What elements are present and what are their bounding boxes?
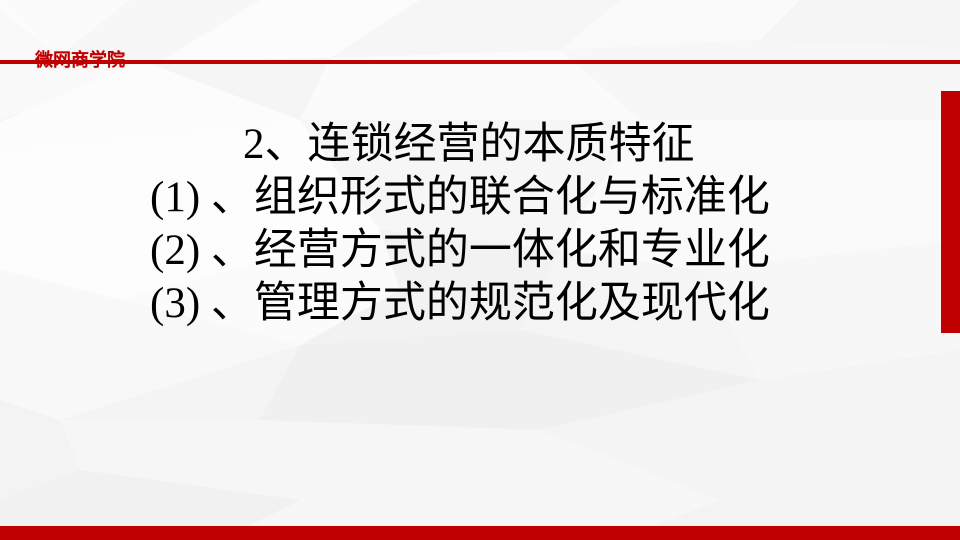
content-line-heading: 2、连锁经营的本质特征 bbox=[0, 118, 900, 171]
brand-logo-text: 微网商学院 bbox=[35, 48, 125, 74]
slide-content-block: 2、连锁经营的本质特征 (1) 、组织形式的联合化与标准化 (2) 、经营方式的… bbox=[0, 118, 900, 330]
content-line-item-2: (2) 、经营方式的一体化和专业化 bbox=[0, 224, 900, 277]
presentation-slide: 微网商学院 2、连锁经营的本质特征 (1) 、组织形式的联合化与标准化 (2) … bbox=[0, 0, 960, 540]
header-divider-rule bbox=[0, 60, 960, 64]
right-accent-bar bbox=[941, 91, 960, 333]
content-line-item-3: (3) 、管理方式的规范化及现代化 bbox=[0, 277, 900, 330]
bottom-accent-bar bbox=[0, 526, 960, 540]
content-line-item-1: (1) 、组织形式的联合化与标准化 bbox=[0, 171, 900, 224]
